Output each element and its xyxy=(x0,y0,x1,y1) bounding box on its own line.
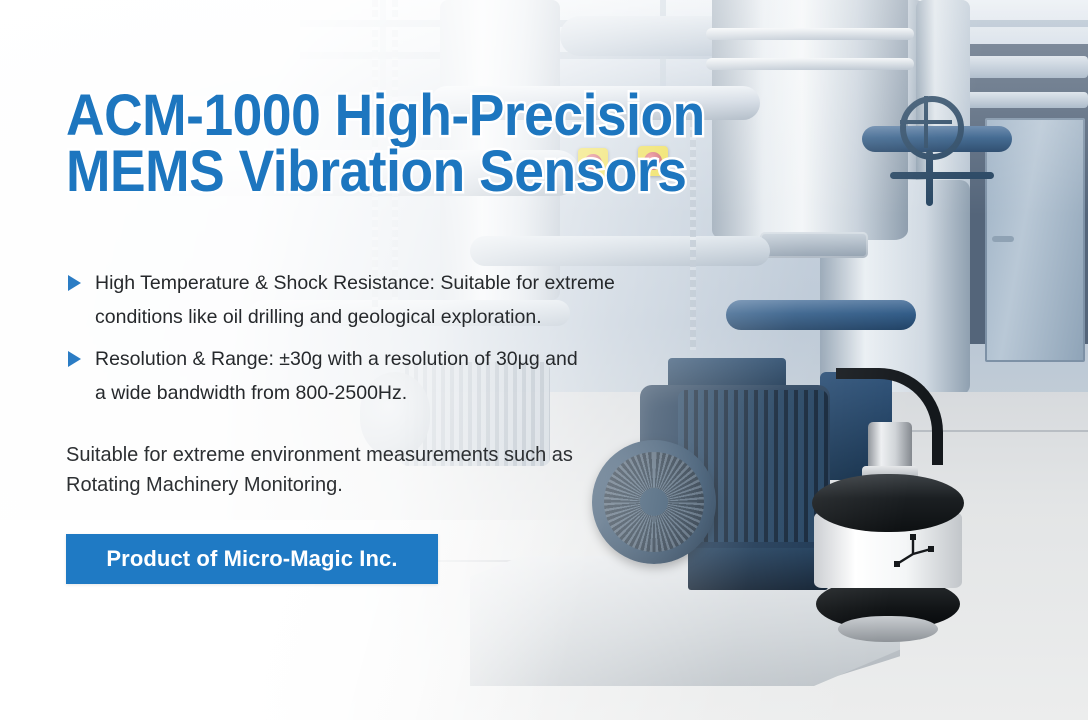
subtitle: Suitable for extreme environment measure… xyxy=(66,440,626,500)
triangle-right-icon xyxy=(68,351,81,367)
feature-line-1: Resolution & Range: ±30g with a resoluti… xyxy=(95,348,578,370)
page-title: ACM-1000 High-Precision MEMS Vibration S… xyxy=(66,88,784,200)
banner-content: ACM-1000 High-Precision MEMS Vibration S… xyxy=(0,0,1088,720)
feature-text: Resolution & Range: ±30g with a resoluti… xyxy=(95,342,578,410)
product-of-button[interactable]: Product of Micro-Magic Inc. xyxy=(66,534,438,584)
headline-line-2: MEMS Vibration Sensors xyxy=(66,144,784,200)
feature-line-1: High Temperature & Shock Resistance: Sui… xyxy=(95,272,615,294)
feature-text: High Temperature & Shock Resistance: Sui… xyxy=(95,266,615,334)
feature-line-2: a wide bandwidth from 800-2500Hz. xyxy=(95,382,407,404)
headline-line-1: ACM-1000 High-Precision xyxy=(66,88,784,144)
feature-list: High Temperature & Shock Resistance: Sui… xyxy=(66,266,686,418)
product-banner: ACM-1000 High-Precision MEMS Vibration S… xyxy=(0,0,1088,720)
list-item: High Temperature & Shock Resistance: Sui… xyxy=(66,266,686,334)
subtitle-line-1: Suitable for extreme environment measure… xyxy=(66,440,626,470)
cta-label: Product of Micro-Magic Inc. xyxy=(106,546,397,572)
list-item: Resolution & Range: ±30g with a resoluti… xyxy=(66,342,686,410)
triangle-right-icon xyxy=(68,275,81,291)
subtitle-line-2: Rotating Machinery Monitoring. xyxy=(66,470,626,500)
feature-line-2: conditions like oil drilling and geologi… xyxy=(95,306,542,328)
